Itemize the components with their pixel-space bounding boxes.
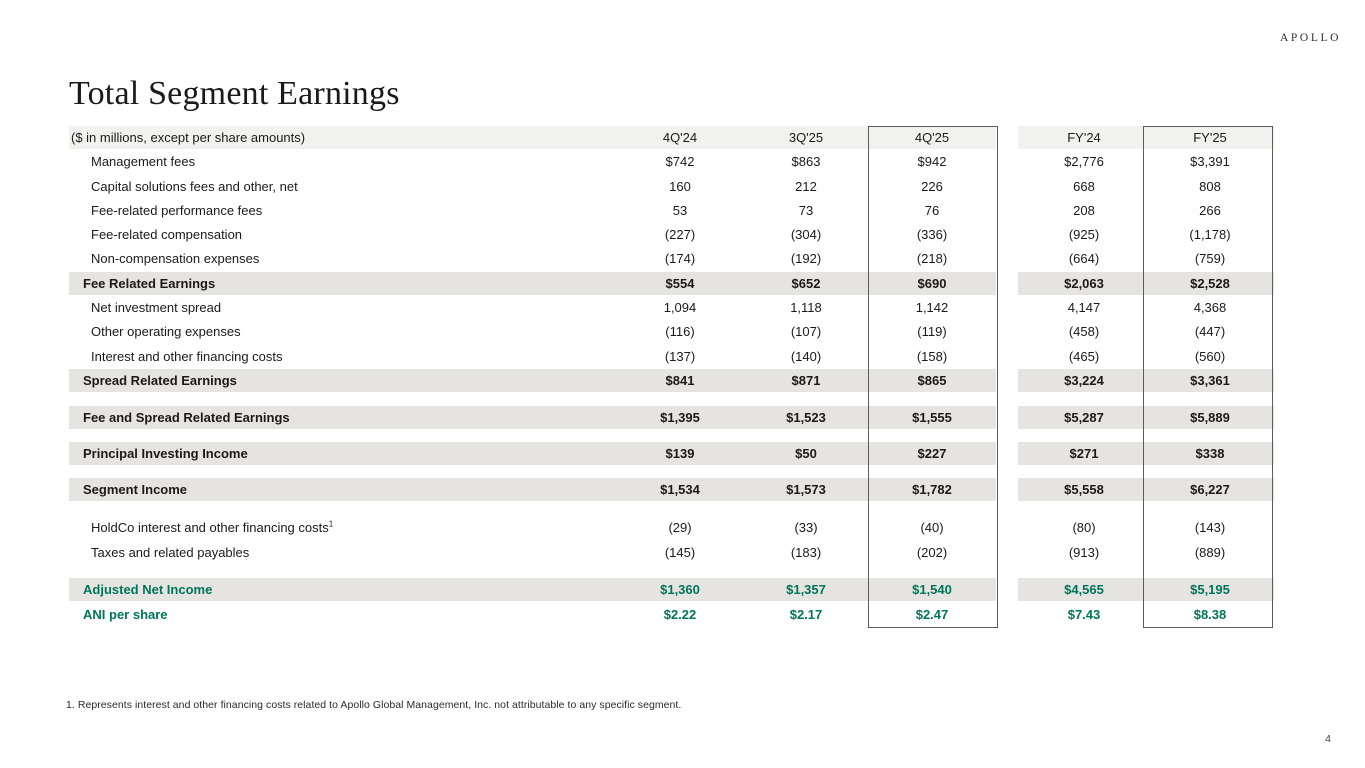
cell-value: 4,147	[1020, 296, 1148, 319]
cell-value: $5,558	[1020, 478, 1148, 501]
cell-value: $942	[868, 150, 996, 173]
cell-value: $8.38	[1146, 603, 1274, 626]
row-label: Fee and Spread Related Earnings	[83, 406, 290, 429]
cell-value: $1,573	[746, 478, 866, 501]
row-label: ANI per share	[83, 603, 168, 626]
cell-value: (304)	[746, 223, 866, 246]
column-header-1: 4Q'24	[620, 126, 740, 149]
row-label: Fee-related compensation	[91, 223, 242, 246]
column-header-5: FY'25	[1146, 126, 1274, 149]
cell-value: $2.22	[620, 603, 740, 626]
cell-value: $2.17	[746, 603, 866, 626]
table-row: Principal Investing Income$139$50$227$27…	[69, 442, 1274, 465]
cell-value: (116)	[620, 320, 740, 343]
cell-value: $871	[746, 369, 866, 392]
cell-value: $5,195	[1146, 578, 1274, 601]
column-header-2: 3Q'25	[746, 126, 866, 149]
cell-value: $338	[1146, 442, 1274, 465]
table-row: HoldCo interest and other financing cost…	[69, 516, 1274, 539]
cell-value: 160	[620, 175, 740, 198]
cell-value: (137)	[620, 345, 740, 368]
cell-value: 53	[620, 199, 740, 222]
row-label: Other operating expenses	[91, 320, 241, 343]
cell-value: $50	[746, 442, 866, 465]
cell-value: (336)	[868, 223, 996, 246]
cell-value: $1,555	[868, 406, 996, 429]
cell-value: (143)	[1146, 516, 1274, 539]
row-label: Interest and other financing costs	[91, 345, 283, 368]
row-label: Net investment spread	[91, 296, 221, 319]
row-label: Management fees	[91, 150, 195, 173]
row-label: Fee Related Earnings	[83, 272, 215, 295]
cell-value: 4,368	[1146, 296, 1274, 319]
cell-value: $690	[868, 272, 996, 295]
cell-value: (183)	[746, 541, 866, 564]
cell-value: $1,782	[868, 478, 996, 501]
table-row: Other operating expenses(116)(107)(119)(…	[69, 320, 1274, 343]
table-row: Segment Income$1,534$1,573$1,782$5,558$6…	[69, 478, 1274, 501]
footnote-1: 1. Represents interest and other financi…	[66, 699, 681, 711]
cell-value: $652	[746, 272, 866, 295]
cell-value: (33)	[746, 516, 866, 539]
cell-value: (458)	[1020, 320, 1148, 343]
cell-value: $554	[620, 272, 740, 295]
cell-value: (202)	[868, 541, 996, 564]
apollo-logo-wordmark: APOLLO	[1280, 32, 1341, 44]
cell-value: 808	[1146, 175, 1274, 198]
table-row: Fee-related performance fees537376208266	[69, 199, 1274, 222]
cell-value: $841	[620, 369, 740, 392]
row-label: Spread Related Earnings	[83, 369, 237, 392]
cell-value: (107)	[746, 320, 866, 343]
cell-value: $3,361	[1146, 369, 1274, 392]
cell-value: (560)	[1146, 345, 1274, 368]
cell-value: $2,776	[1020, 150, 1148, 173]
cell-value: (664)	[1020, 247, 1148, 270]
table-header-row: ($ in millions, except per share amounts…	[69, 126, 1274, 149]
column-header-4: FY'24	[1020, 126, 1148, 149]
table-row: Net investment spread1,0941,1181,1424,14…	[69, 296, 1274, 319]
cell-value: $865	[868, 369, 996, 392]
table-row: Capital solutions fees and other, net160…	[69, 175, 1274, 198]
cell-value: $2,063	[1020, 272, 1148, 295]
cell-value: $271	[1020, 442, 1148, 465]
slide-canvas: APOLLO Total Segment Earnings ($ in mill…	[0, 0, 1365, 768]
cell-value: 73	[746, 199, 866, 222]
cell-value: (925)	[1020, 223, 1148, 246]
cell-value: $1,360	[620, 578, 740, 601]
cell-value: $1,534	[620, 478, 740, 501]
cell-value: 208	[1020, 199, 1148, 222]
cell-value: (759)	[1146, 247, 1274, 270]
row-label: Adjusted Net Income	[83, 578, 212, 601]
cell-value: 668	[1020, 175, 1148, 198]
table-row: Non-compensation expenses(174)(192)(218)…	[69, 247, 1274, 270]
cell-value: 226	[868, 175, 996, 198]
table-row: Fee Related Earnings$554$652$690$2,063$2…	[69, 272, 1274, 295]
cell-value: $4,565	[1020, 578, 1148, 601]
cell-value: $5,889	[1146, 406, 1274, 429]
cell-value: 212	[746, 175, 866, 198]
segment-earnings-table: ($ in millions, except per share amounts…	[69, 126, 1274, 626]
cell-value: $2.47	[868, 603, 996, 626]
cell-value: $742	[620, 150, 740, 173]
cell-value: $1,395	[620, 406, 740, 429]
cell-value: 1,142	[868, 296, 996, 319]
cell-value: (158)	[868, 345, 996, 368]
row-label: Principal Investing Income	[83, 442, 248, 465]
row-label: Segment Income	[83, 478, 187, 501]
cell-value: 1,118	[746, 296, 866, 319]
cell-value: (913)	[1020, 541, 1148, 564]
footnote-marker: 1	[329, 520, 333, 529]
cell-value: $863	[746, 150, 866, 173]
cell-value: $139	[620, 442, 740, 465]
cell-value: (192)	[746, 247, 866, 270]
page-title: Total Segment Earnings	[69, 75, 400, 112]
cell-value: $3,391	[1146, 150, 1274, 173]
column-header-3: 4Q'25	[868, 126, 996, 149]
cell-value: $1,523	[746, 406, 866, 429]
table-row: Management fees$742$863$942$2,776$3,391	[69, 150, 1274, 173]
cell-value: $1,357	[746, 578, 866, 601]
cell-value: (227)	[620, 223, 740, 246]
cell-value: 76	[868, 199, 996, 222]
cell-value: (218)	[868, 247, 996, 270]
cell-value: $5,287	[1020, 406, 1148, 429]
row-label: Capital solutions fees and other, net	[91, 175, 298, 198]
row-label: Taxes and related payables	[91, 541, 249, 564]
table-row: Taxes and related payables(145)(183)(202…	[69, 541, 1274, 564]
cell-value: $6,227	[1146, 478, 1274, 501]
page-number: 4	[1325, 733, 1331, 745]
cell-value: (174)	[620, 247, 740, 270]
table-row: Fee-related compensation(227)(304)(336)(…	[69, 223, 1274, 246]
row-label: Non-compensation expenses	[91, 247, 259, 270]
cell-value: (465)	[1020, 345, 1148, 368]
table-row: ANI per share$2.22$2.17$2.47$7.43$8.38	[69, 603, 1274, 626]
table-row: Interest and other financing costs(137)(…	[69, 345, 1274, 368]
cell-value: 1,094	[620, 296, 740, 319]
table-row: Adjusted Net Income$1,360$1,357$1,540$4,…	[69, 578, 1274, 601]
row-label: HoldCo interest and other financing cost…	[91, 516, 333, 539]
cell-value: $2,528	[1146, 272, 1274, 295]
table-row: Spread Related Earnings$841$871$865$3,22…	[69, 369, 1274, 392]
cell-value: $227	[868, 442, 996, 465]
row-label: Fee-related performance fees	[91, 199, 262, 222]
cell-value: $3,224	[1020, 369, 1148, 392]
cell-value: (119)	[868, 320, 996, 343]
cell-value: (889)	[1146, 541, 1274, 564]
cell-value: $7.43	[1020, 603, 1148, 626]
cell-value: $1,540	[868, 578, 996, 601]
cell-value: 266	[1146, 199, 1274, 222]
cell-value: (140)	[746, 345, 866, 368]
cell-value: (145)	[620, 541, 740, 564]
cell-value: (40)	[868, 516, 996, 539]
table-row: Fee and Spread Related Earnings$1,395$1,…	[69, 406, 1274, 429]
cell-value: (80)	[1020, 516, 1148, 539]
cell-value: (29)	[620, 516, 740, 539]
table-units-label: ($ in millions, except per share amounts…	[71, 126, 305, 149]
cell-value: (1,178)	[1146, 223, 1274, 246]
cell-value: (447)	[1146, 320, 1274, 343]
